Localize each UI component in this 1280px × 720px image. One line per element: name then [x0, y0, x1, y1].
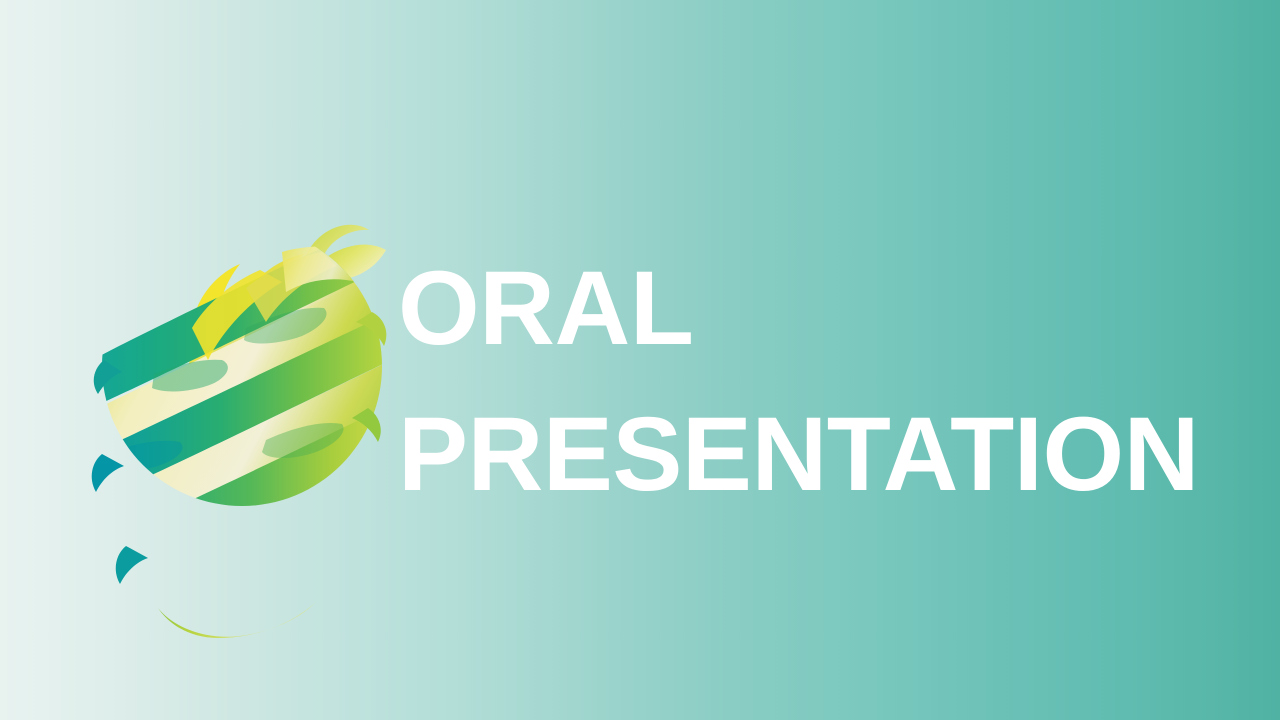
logo-ribbon-bottom-loop — [158, 602, 316, 638]
title-line-presentation: PRESENTATION — [398, 382, 1198, 528]
slide-canvas: ORAL PRESENTATION — [0, 0, 1280, 720]
logo-ribbon-tail-left-3 — [116, 546, 148, 584]
globe-ribbon-leaf-logo — [96, 208, 386, 518]
title-line-oral: ORAL — [398, 236, 1198, 382]
slide-title-block: ORAL PRESENTATION — [398, 236, 1198, 528]
logo-ribbon-tail-left-2 — [92, 454, 124, 492]
